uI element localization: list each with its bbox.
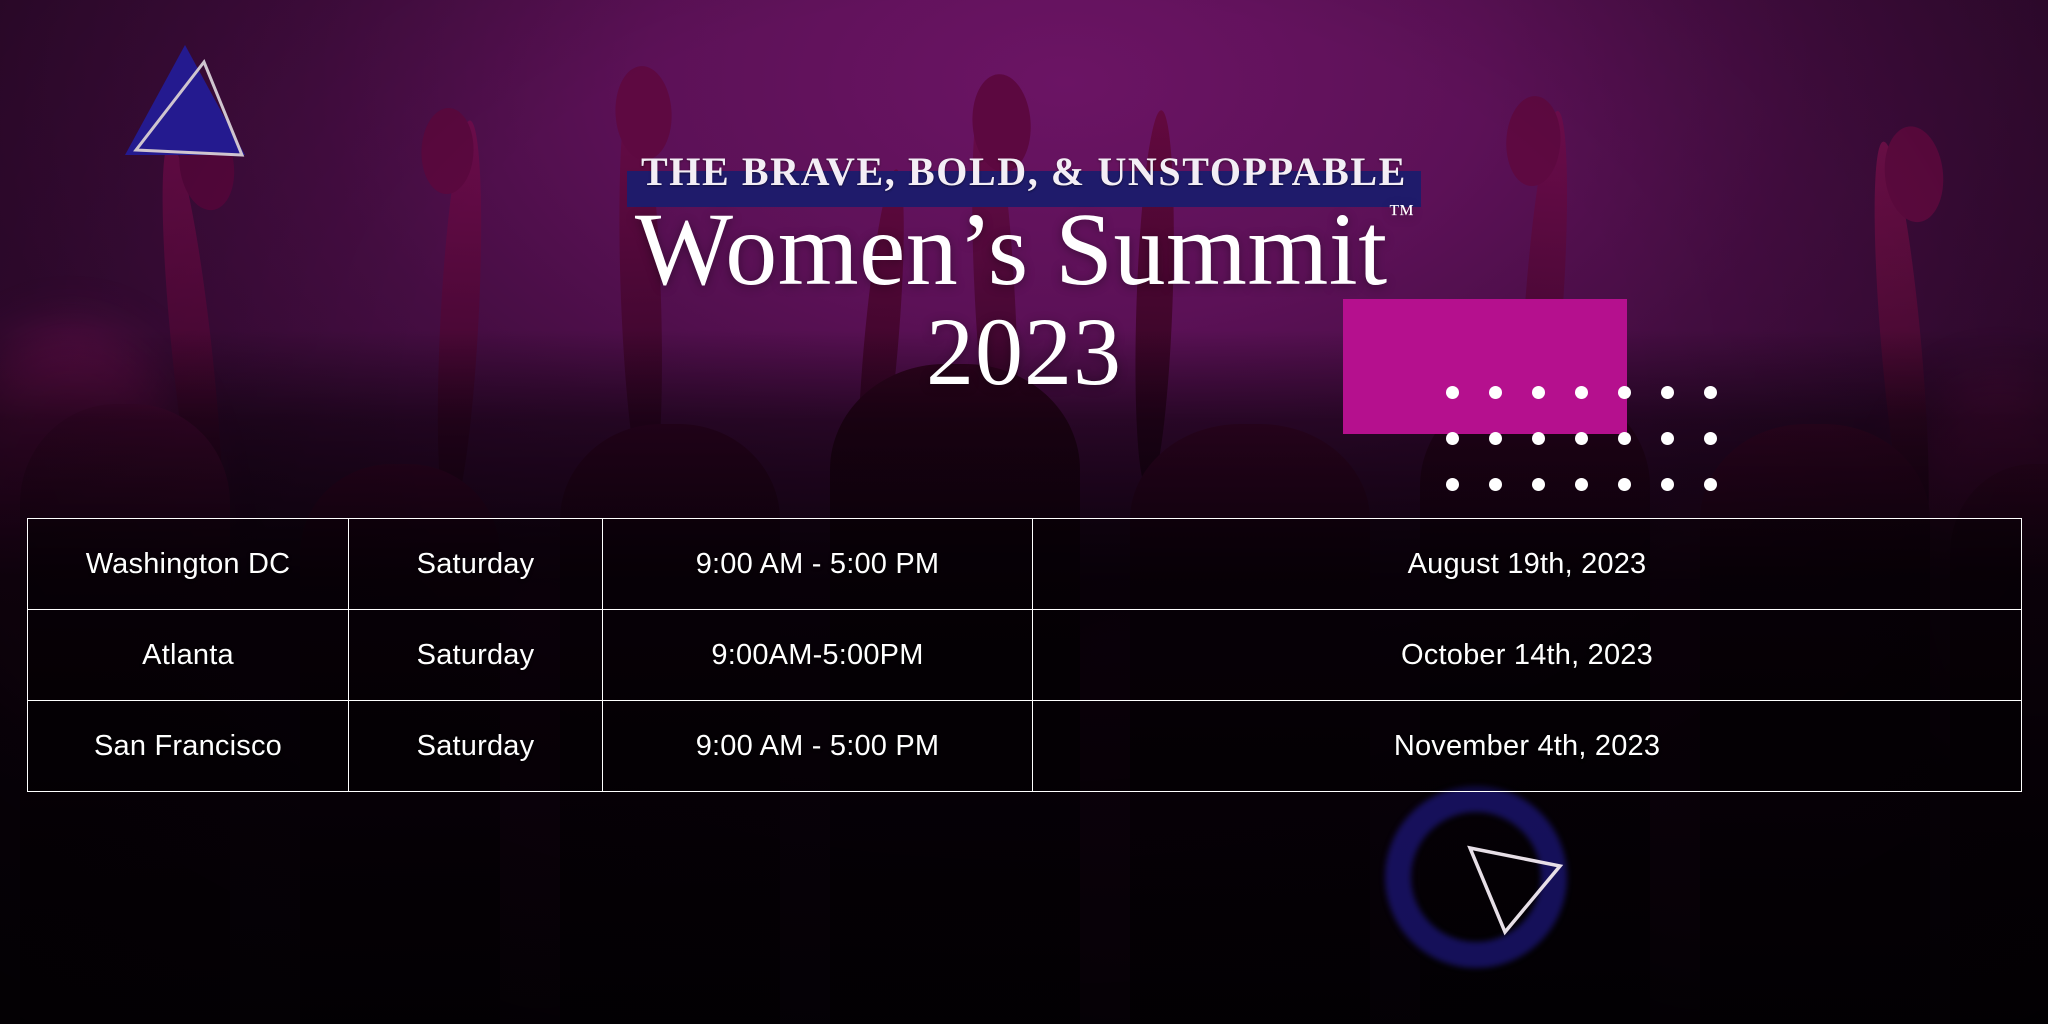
- eyebrow-wrapper: THE BRAVE, BOLD, & UNSTOPPABLE: [635, 150, 1413, 194]
- grid-dot: [1618, 478, 1631, 491]
- cell-date: August 19th, 2023: [1033, 519, 2022, 610]
- grid-dot: [1704, 478, 1717, 491]
- page-title-text: Women’s Summit: [635, 192, 1388, 307]
- event-year: 2023: [0, 304, 2048, 400]
- grid-dot: [1489, 478, 1502, 491]
- cell-city: Washington DC: [28, 519, 349, 610]
- cell-day: Saturday: [349, 701, 603, 792]
- schedule-table-wrapper: Washington DC Saturday 9:00 AM - 5:00 PM…: [27, 518, 2021, 792]
- triangle-outline-inverted-white-icon: [1460, 838, 1570, 948]
- cell-time: 9:00AM-5:00PM: [603, 610, 1033, 701]
- grid-dot: [1446, 478, 1459, 491]
- cell-day: Saturday: [349, 610, 603, 701]
- cell-date: November 4th, 2023: [1033, 701, 2022, 792]
- schedule-table: Washington DC Saturday 9:00 AM - 5:00 PM…: [27, 518, 2022, 792]
- grid-dot: [1704, 432, 1717, 445]
- grid-dot: [1446, 432, 1459, 445]
- eyebrow-text: THE BRAVE, BOLD, & UNSTOPPABLE: [635, 150, 1413, 194]
- grid-dot: [1575, 432, 1588, 445]
- grid-dot: [1532, 432, 1545, 445]
- cell-city: Atlanta: [28, 610, 349, 701]
- grid-dot: [1661, 478, 1674, 491]
- page-title: Women’s Summit™: [0, 198, 2048, 302]
- cell-time: 9:00 AM - 5:00 PM: [603, 701, 1033, 792]
- grid-dot: [1661, 432, 1674, 445]
- grid-dot: [1575, 478, 1588, 491]
- grid-dot: [1532, 478, 1545, 491]
- table-row: San Francisco Saturday 9:00 AM - 5:00 PM…: [28, 701, 2022, 792]
- table-row: Atlanta Saturday 9:00AM-5:00PM October 1…: [28, 610, 2022, 701]
- event-banner: THE BRAVE, BOLD, & UNSTOPPABLE Women’s S…: [0, 0, 2048, 1024]
- cell-city: San Francisco: [28, 701, 349, 792]
- trademark-symbol: ™: [1389, 199, 1414, 228]
- cell-date: October 14th, 2023: [1033, 610, 2022, 701]
- dot-grid-7x3-icon: [1446, 386, 1728, 502]
- grid-dot: [1489, 432, 1502, 445]
- title-block: THE BRAVE, BOLD, & UNSTOPPABLE Women’s S…: [0, 150, 2048, 400]
- cell-day: Saturday: [349, 519, 603, 610]
- grid-dot: [1618, 432, 1631, 445]
- table-row: Washington DC Saturday 9:00 AM - 5:00 PM…: [28, 519, 2022, 610]
- cell-time: 9:00 AM - 5:00 PM: [603, 519, 1033, 610]
